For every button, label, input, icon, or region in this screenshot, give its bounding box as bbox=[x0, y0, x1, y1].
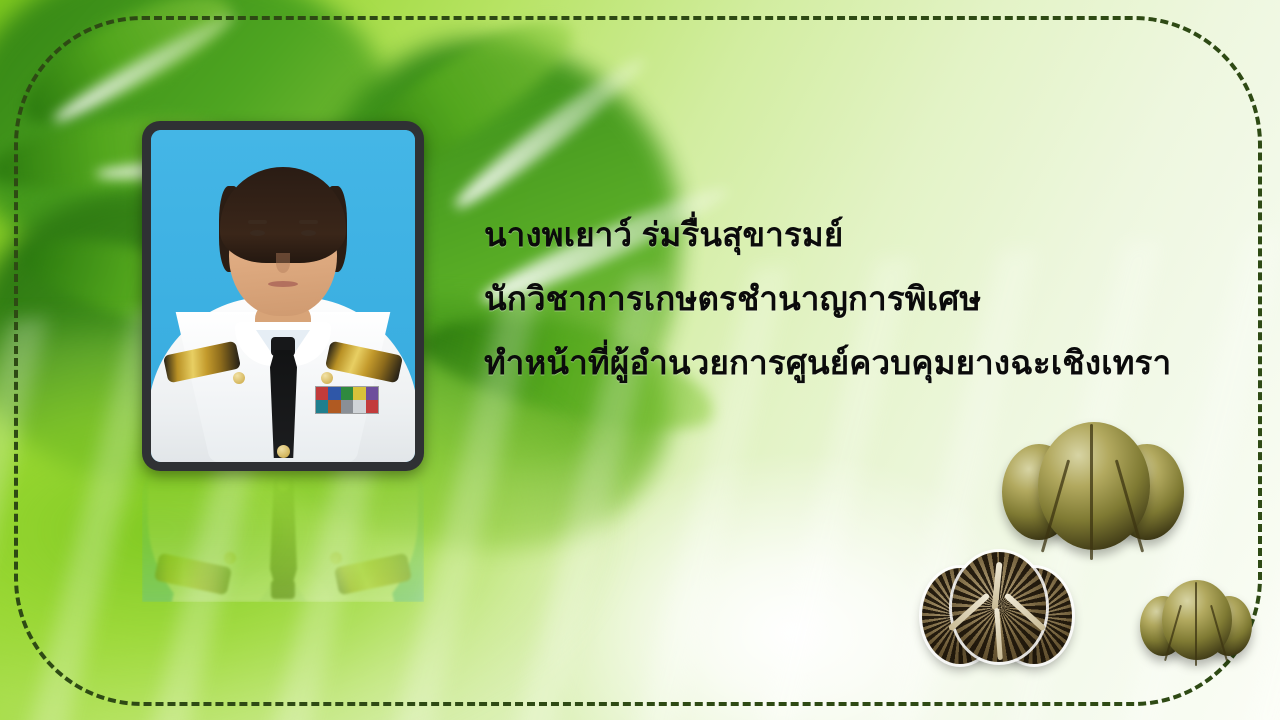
photo-image bbox=[151, 130, 415, 462]
medal-ribbon bbox=[341, 400, 353, 413]
eye-right bbox=[301, 230, 316, 236]
medal-ribbon bbox=[316, 387, 328, 400]
medal-ribbon bbox=[328, 387, 340, 400]
medal-ribbon bbox=[316, 400, 328, 413]
person-position-line: นักวิชาการเกษตรชำนาญการพิเศษ bbox=[484, 267, 1254, 331]
portrait-reflection bbox=[142, 474, 424, 602]
medal-ribbon-bar bbox=[315, 386, 379, 414]
photo-frame bbox=[142, 121, 424, 471]
rubber-seed-pod-small bbox=[1140, 578, 1252, 670]
eyebrow-left bbox=[248, 220, 267, 224]
mouth bbox=[268, 281, 298, 287]
eye-left bbox=[250, 230, 265, 236]
eyebrow-right bbox=[299, 220, 318, 224]
person-role-line: ทำหน้าที่ผู้อำนวยการศูนย์ควบคุมยางฉะเชิง… bbox=[484, 331, 1254, 395]
medal-ribbon bbox=[353, 400, 365, 413]
necktie bbox=[270, 350, 297, 458]
rubber-seed-pod-cross-section bbox=[922, 552, 1072, 680]
banner-slide: นางพเยาว์ ร่มรื่นสุขารมย์ นักวิชาการเกษต… bbox=[0, 0, 1280, 720]
nose bbox=[276, 253, 290, 273]
medal-ribbon bbox=[366, 400, 378, 413]
medal-ribbon bbox=[341, 387, 353, 400]
jacket-button-left bbox=[233, 372, 245, 384]
medal-ribbon bbox=[366, 387, 378, 400]
medal-ribbon bbox=[328, 400, 340, 413]
medal-ribbon bbox=[353, 387, 365, 400]
person-name-line: นางพเยาว์ ร่มรื่นสุขารมย์ bbox=[484, 203, 1254, 267]
jacket-button-center bbox=[277, 445, 290, 458]
jacket-button-right bbox=[321, 372, 333, 384]
portrait-photo bbox=[142, 121, 424, 471]
rubber-seed-pod-large bbox=[1002, 418, 1184, 568]
caption-text-block: นางพเยาว์ ร่มรื่นสุขารมย์ นักวิชาการเกษต… bbox=[484, 203, 1254, 395]
